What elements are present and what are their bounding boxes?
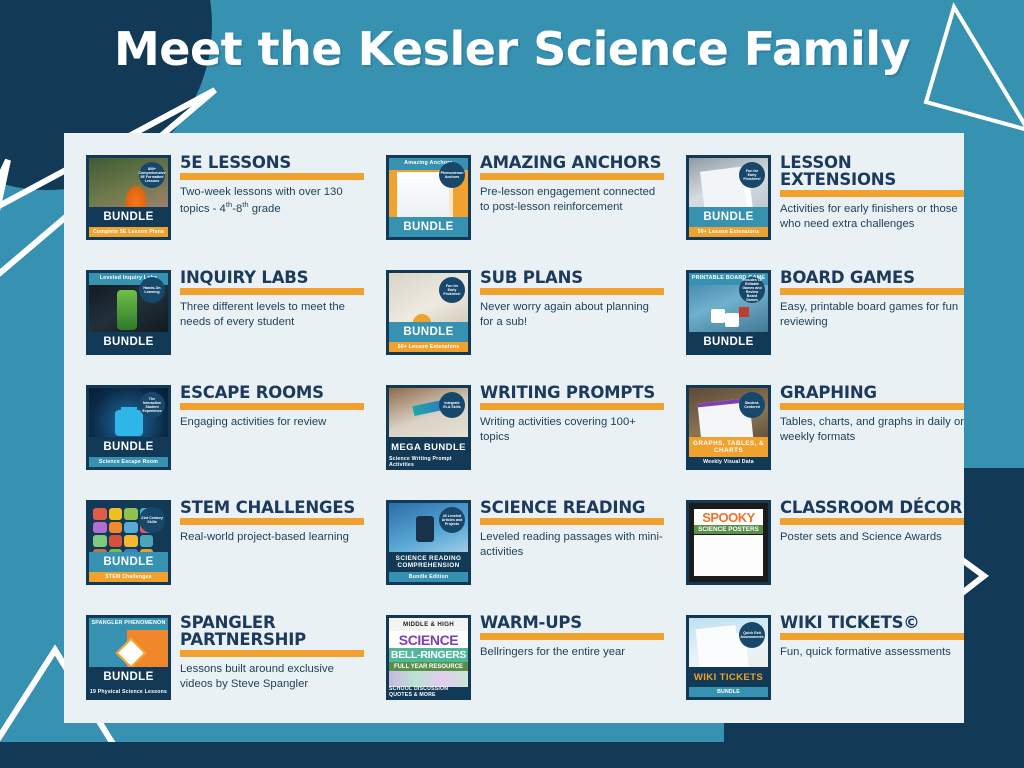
product-card[interactable]: 40 Leveled Articles and ProjectsBundle E… (364, 497, 664, 612)
thumbnail-bundle-label: BUNDLE (389, 217, 468, 237)
accent-underline (180, 518, 364, 525)
thumbnail-sub-label: Weekly Visual Data (689, 457, 768, 467)
product-thumbnail[interactable]: 800+ Comprehensive 5E Formatted LessonsC… (86, 155, 171, 240)
product-text-block: WARM-UPSBellringers for the entire year (480, 612, 664, 660)
accent-underline (780, 190, 964, 197)
product-description: Bellringers for the entire year (480, 645, 664, 660)
accent-underline (480, 518, 664, 525)
stem-icon (109, 522, 123, 534)
product-card[interactable]: Amazing AnchorsPhenomenon AnchorsBUNDLEA… (364, 152, 664, 267)
product-title: SUB PLANS (480, 269, 664, 286)
accent-underline (480, 403, 664, 410)
thumbnail-badge: The Interactive Student Experience (139, 392, 165, 418)
products-panel: 800+ Comprehensive 5E Formatted LessonsC… (64, 133, 964, 723)
product-title: ESCAPE ROOMS (180, 384, 364, 401)
navy-strip-bottom (0, 742, 1024, 768)
thumbnail-badge: Hands-On Learning (139, 277, 165, 303)
product-description: Real-world project-based learning (180, 530, 364, 545)
product-thumbnail[interactable]: The Interactive Student ExperienceScienc… (86, 385, 171, 470)
product-description: Poster sets and Science Awards (780, 530, 964, 545)
product-description: Writing activities covering 100+ topics (480, 415, 664, 445)
product-thumbnail[interactable]: Student-CenteredWeekly Visual DataGRAPHS… (686, 385, 771, 470)
accent-underline (180, 288, 364, 295)
accent-underline (180, 403, 364, 410)
product-description: Two-week lessons with over 130 topics - … (180, 185, 364, 217)
product-thumbnail[interactable]: SPOOKYSCIENCE POSTERS (686, 500, 771, 585)
product-thumbnail[interactable]: Quick Exit AssessmentsBUNDLEWIKI TICKETS (686, 615, 771, 700)
product-title: GRAPHING (780, 384, 964, 401)
thumbnail-sub-label: Complete 5E Lesson Plans (89, 227, 168, 237)
product-text-block: SUB PLANSNever worry again about plannin… (480, 267, 664, 330)
product-description: Fun, quick formative assessments (780, 645, 964, 660)
cover-poster-grid (694, 535, 763, 576)
product-cover-art: SPOOKYSCIENCE POSTERS (689, 503, 768, 582)
thumbnail-sub-label: BUNDLE (689, 687, 768, 697)
thumbnail-badge: Integrate ELA Skills (439, 392, 465, 418)
product-text-block: 5E LESSONSTwo-week lessons with over 130… (180, 152, 364, 217)
accent-underline (780, 288, 964, 295)
product-card[interactable]: 800+ Comprehensive 5E Formatted LessonsC… (64, 152, 364, 267)
product-title: SCIENCE READING (480, 499, 664, 516)
cover-line-2: SCIENCE POSTERS (694, 525, 763, 534)
thumbnail-badge: 40 Leveled Articles and Projects (439, 507, 465, 533)
product-card[interactable]: Student-CenteredWeekly Visual DataGRAPHS… (664, 382, 964, 497)
product-title: BOARD GAMES (780, 269, 964, 286)
product-card[interactable]: Fun for Early Finishers!50+ Lesson Exten… (664, 152, 964, 267)
thumbnail-sub-label: 19 Physical Science Lessons (89, 687, 168, 697)
product-title: SPANGLER PARTNERSHIP (180, 614, 364, 648)
thumbnail-bundle-label: BUNDLE (389, 322, 468, 342)
accent-underline (480, 633, 664, 640)
thumbnail-sub-label: Bundle Edition (389, 572, 468, 582)
accent-underline (480, 288, 664, 295)
accent-underline (780, 518, 964, 525)
product-description: Easy, printable board games for fun revi… (780, 300, 964, 330)
product-card[interactable]: Quick Exit AssessmentsBUNDLEWIKI TICKETS… (664, 612, 964, 727)
product-card[interactable]: Leveled Inquiry LabsHands-On LearningBUN… (64, 267, 364, 382)
stem-icon (93, 535, 107, 547)
stem-icon (109, 535, 123, 547)
stem-icon (93, 522, 107, 534)
accent-underline (780, 633, 964, 640)
product-thumbnail[interactable]: PRINTABLE BOARD GAMEIncludes 19 Editable… (686, 270, 771, 355)
product-text-block: WIKI TICKETS©Fun, quick formative assess… (780, 612, 964, 660)
thumbnail-sub-label: STEM Challenges (89, 572, 168, 582)
product-text-block: GRAPHINGTables, charts, and graphs in da… (780, 382, 964, 445)
product-card[interactable]: Integrate ELA SkillsScience Writing Prom… (364, 382, 664, 497)
products-grid: 800+ Comprehensive 5E Formatted LessonsC… (64, 133, 964, 723)
product-title: STEM CHALLENGES (180, 499, 364, 516)
product-text-block: AMAZING ANCHORSPre-lesson engagement con… (480, 152, 664, 215)
product-text-block: CLASSROOM DÉCORPoster sets and Science A… (780, 497, 964, 545)
product-description: Pre-lesson engagement connected to post-… (480, 185, 664, 215)
thumbnail-badge: Student-Centered (739, 392, 765, 418)
product-text-block: LESSON EXTENSIONSActivities for early fi… (780, 152, 964, 232)
thumbnail-badge: 800+ Comprehensive 5E Formatted Lessons (139, 162, 165, 188)
thumbnail-top-label: SPANGLER PHENOMENON (89, 618, 168, 630)
stem-icon (124, 535, 138, 547)
slide-canvas: Meet the Kesler Science Family 800+ Comp… (0, 0, 1024, 768)
page-title: Meet the Kesler Science Family (0, 22, 1024, 76)
product-text-block: BOARD GAMESEasy, printable board games f… (780, 267, 964, 330)
thumbnail-bundle-label: GRAPHS, TABLES, & CHARTS (689, 437, 768, 457)
product-title: WIKI TICKETS© (780, 614, 964, 631)
product-card[interactable]: 21st Century SkillsSTEM ChallengesBUNDLE… (64, 497, 364, 612)
product-description: Engaging activities for review (180, 415, 364, 430)
stem-icon (124, 508, 138, 520)
product-thumbnail[interactable]: MIDDLE & HIGHSCIENCEBELL-RINGERSFULL YEA… (386, 615, 471, 700)
stem-icon (140, 535, 154, 547)
product-thumbnail[interactable]: 21st Century SkillsSTEM ChallengesBUNDLE (86, 500, 171, 585)
thumbnail-sub-label: 50+ Lesson Extensions (689, 227, 768, 237)
accent-underline (480, 173, 664, 180)
product-description: Leveled reading passages with mini-activ… (480, 530, 664, 560)
accent-underline (180, 650, 364, 657)
product-text-block: SPANGLER PARTNERSHIPLessons built around… (180, 612, 364, 692)
product-thumbnail[interactable]: Fun for Early Finishers!50+ Lesson Exten… (686, 155, 771, 240)
stem-icon (124, 522, 138, 534)
thumbnail-sub-label: SCHOOL DISCUSSION QUOTES & MORE (389, 687, 468, 697)
product-thumbnail[interactable]: Integrate ELA SkillsScience Writing Prom… (386, 385, 471, 470)
accent-underline (180, 173, 364, 180)
product-text-block: SCIENCE READINGLeveled reading passages … (480, 497, 664, 560)
product-description: Tables, charts, and graphs in daily or w… (780, 415, 964, 445)
thumbnail-bundle-label: BUNDLE (89, 552, 168, 572)
product-description: Three different levels to meet the needs… (180, 300, 364, 330)
thumbnail-badge: Fun for Early Finishers! (739, 162, 765, 188)
product-description: Never worry again about planning for a s… (480, 300, 664, 330)
thumbnail-badge: 21st Century Skills (139, 507, 165, 533)
thumbnail-bundle-label: SCIENCE READING COMPREHENSION (389, 552, 468, 572)
product-title: WRITING PROMPTS (480, 384, 664, 401)
product-card[interactable]: SPOOKYSCIENCE POSTERSCLASSROOM DÉCORPost… (664, 497, 964, 612)
product-title: WARM-UPS (480, 614, 664, 631)
thumbnail-bundle-label: BUNDLE (89, 332, 168, 352)
thumbnail-badge: Fun for Early Finishers! (439, 277, 465, 303)
thumbnail-bundle-label: MEGA BUNDLE (389, 437, 468, 457)
product-title: LESSON EXTENSIONS (780, 154, 964, 188)
accent-underline (780, 403, 964, 410)
product-card[interactable]: MIDDLE & HIGHSCIENCEBELL-RINGERSFULL YEA… (364, 612, 664, 727)
product-thumbnail[interactable]: Amazing AnchorsPhenomenon AnchorsBUNDLE (386, 155, 471, 240)
thumbnail-bundle-label: BUNDLE (689, 332, 768, 352)
product-card[interactable]: SPANGLER PHENOMENON19 Physical Science L… (64, 612, 364, 727)
product-thumbnail[interactable]: SPANGLER PHENOMENON19 Physical Science L… (86, 615, 171, 700)
product-card[interactable]: PRINTABLE BOARD GAMEIncludes 19 Editable… (664, 267, 964, 382)
thumbnail-badge: Includes 19 Editable Games and Review Bo… (739, 277, 765, 303)
thumbnail-bundle-label: BUNDLE (689, 207, 768, 227)
thumbnail-sub-label: Science Writing Prompt Activities (389, 457, 468, 467)
product-thumbnail[interactable]: Leveled Inquiry LabsHands-On LearningBUN… (86, 270, 171, 355)
product-description: Lessons built around exclusive videos by… (180, 662, 364, 692)
cover-line-2: SCIENCE (389, 631, 468, 648)
cover-line-1: SPOOKY (694, 509, 763, 525)
product-title: 5E LESSONS (180, 154, 364, 171)
cover-line-3: BELL-RINGERS (389, 648, 468, 662)
thumbnail-bundle-label: BUNDLE (89, 437, 168, 457)
product-title: AMAZING ANCHORS (480, 154, 664, 171)
product-title: CLASSROOM DÉCOR (780, 499, 964, 516)
product-text-block: INQUIRY LABSThree different levels to me… (180, 267, 364, 330)
product-text-block: ESCAPE ROOMSEngaging activities for revi… (180, 382, 364, 430)
product-title: INQUIRY LABS (180, 269, 364, 286)
product-text-block: STEM CHALLENGESReal-world project-based … (180, 497, 364, 545)
thumbnail-badge: Quick Exit Assessments (739, 622, 765, 648)
thumbnail-bundle-label: WIKI TICKETS (689, 667, 768, 687)
cover-line-1: MIDDLE & HIGH (389, 618, 468, 631)
product-text-block: WRITING PROMPTSWriting activities coveri… (480, 382, 664, 445)
product-thumbnail[interactable]: 40 Leveled Articles and ProjectsBundle E… (386, 500, 471, 585)
thumbnail-bundle-label: BUNDLE (89, 207, 168, 227)
thumbnail-sub-label: Science Escape Room (89, 457, 168, 467)
stem-icon (93, 508, 107, 520)
cover-line-4: FULL YEAR RESOURCE (389, 662, 468, 671)
stem-icon (109, 508, 123, 520)
product-card[interactable]: The Interactive Student ExperienceScienc… (64, 382, 364, 497)
thumbnail-sub-label: 50+ Lesson Extensions (389, 342, 468, 352)
thumbnail-badge: Phenomenon Anchors (439, 162, 465, 188)
thumbnail-bundle-label: BUNDLE (89, 667, 168, 687)
product-description: Activities for early finishers or those … (780, 202, 964, 232)
product-thumbnail[interactable]: Fun for Early Finishers!50+ Lesson Exten… (386, 270, 471, 355)
product-card[interactable]: Fun for Early Finishers!50+ Lesson Exten… (364, 267, 664, 382)
